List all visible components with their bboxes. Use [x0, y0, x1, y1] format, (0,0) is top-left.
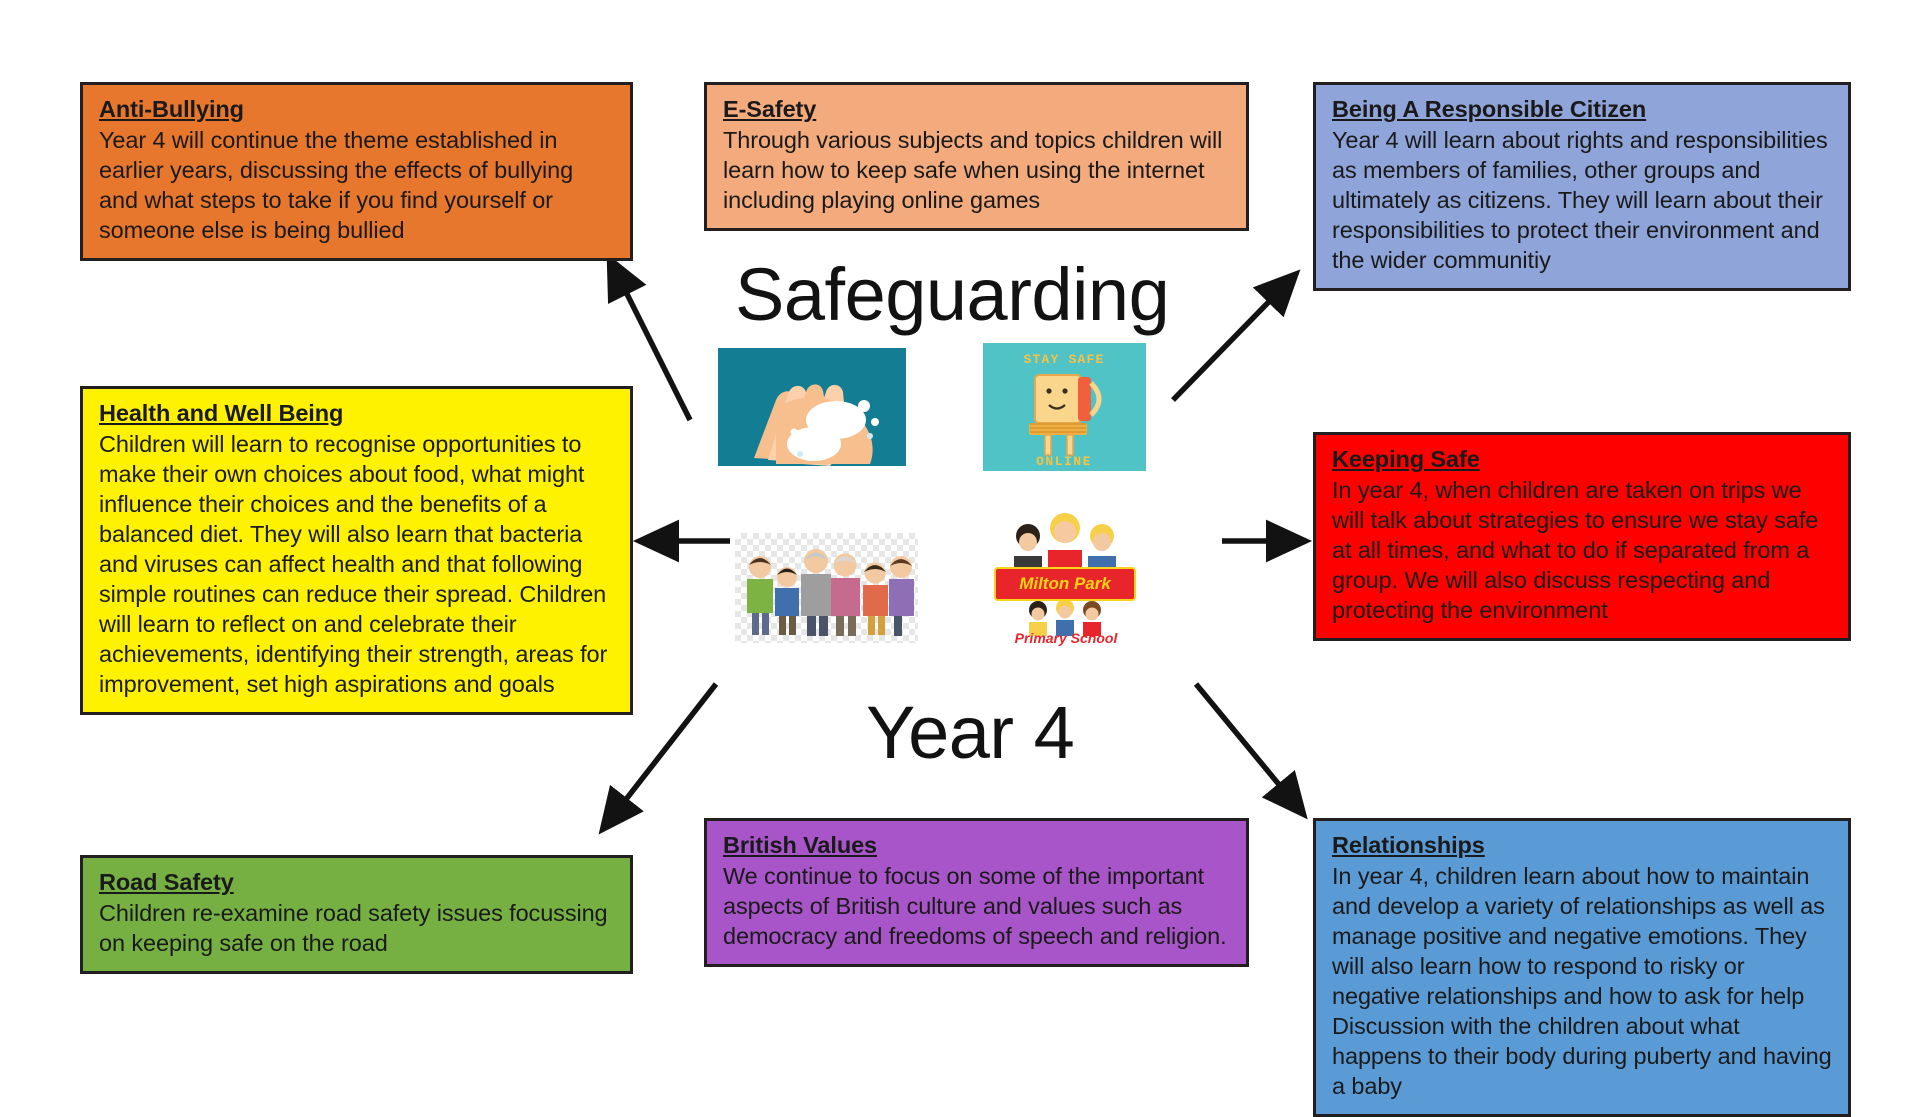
topic-box-health-wellbeing: Health and Well Being Children will lear… — [80, 386, 633, 715]
topic-heading-keeping-safe: Keeping Safe — [1332, 445, 1834, 475]
topic-heading-british-values: British Values — [723, 831, 1232, 861]
stay-safe-text: STAY SAFE — [1023, 352, 1104, 367]
page-title-safeguarding: Safeguarding — [735, 252, 1169, 337]
topic-box-e-safety: E-Safety Through various subjects and to… — [704, 82, 1249, 231]
topic-heading-relationships: Relationships — [1332, 831, 1834, 861]
milton-park-primary-school-logo: Milton Park Primary School — [986, 512, 1144, 654]
topic-box-british-values: British Values We continue to focus on s… — [704, 818, 1249, 967]
logo-school-subtitle: Primary School — [998, 630, 1134, 646]
topic-heading-anti-bullying: Anti-Bullying — [99, 95, 616, 125]
topic-body-relationships: In year 4, children learn about how to m… — [1332, 862, 1834, 1102]
topic-box-responsible-citizen: Being A Responsible Citizen Year 4 will … — [1313, 82, 1851, 291]
topic-body-anti-bullying: Year 4 will continue the theme establish… — [99, 126, 616, 246]
topic-box-anti-bullying: Anti-Bullying Year 4 will continue the t… — [80, 82, 633, 261]
topic-box-road-safety: Road Safety Children re-examine road saf… — [80, 855, 633, 974]
arrow-to-responsible-citizen — [1173, 278, 1292, 400]
topic-body-road-safety: Children re-examine road safety issues f… — [99, 899, 616, 959]
family-group-illustration — [735, 533, 918, 643]
logo-school-name: Milton Park — [994, 567, 1136, 601]
topic-body-e-safety: Through various subjects and topics chil… — [723, 126, 1232, 216]
topic-heading-health-wellbeing: Health and Well Being — [99, 399, 616, 429]
topic-heading-e-safety: E-Safety — [723, 95, 1232, 125]
topic-body-health-wellbeing: Children will learn to recognise opportu… — [99, 430, 616, 700]
topic-box-relationships: Relationships In year 4, children learn … — [1313, 818, 1851, 1117]
safeguarding-diagram: Safeguarding Year 4 STAY SAFE — [0, 0, 1920, 1080]
arrow-to-relationships — [1196, 684, 1300, 810]
online-text: ONLINE — [1036, 454, 1092, 469]
topic-body-keeping-safe: In year 4, when children are taken on tr… — [1332, 476, 1834, 626]
topic-heading-responsible-citizen: Being A Responsible Citizen — [1332, 95, 1834, 125]
topic-body-british-values: We continue to focus on some of the impo… — [723, 862, 1232, 952]
topic-box-keeping-safe: Keeping Safe In year 4, when children ar… — [1313, 432, 1851, 641]
page-title-year: Year 4 — [866, 690, 1074, 775]
stay-safe-online-illustration: STAY SAFE ONLINE — [983, 343, 1146, 471]
handwashing-illustration — [718, 348, 906, 466]
topic-body-responsible-citizen: Year 4 will learn about rights and respo… — [1332, 126, 1834, 276]
topic-heading-road-safety: Road Safety — [99, 868, 616, 898]
